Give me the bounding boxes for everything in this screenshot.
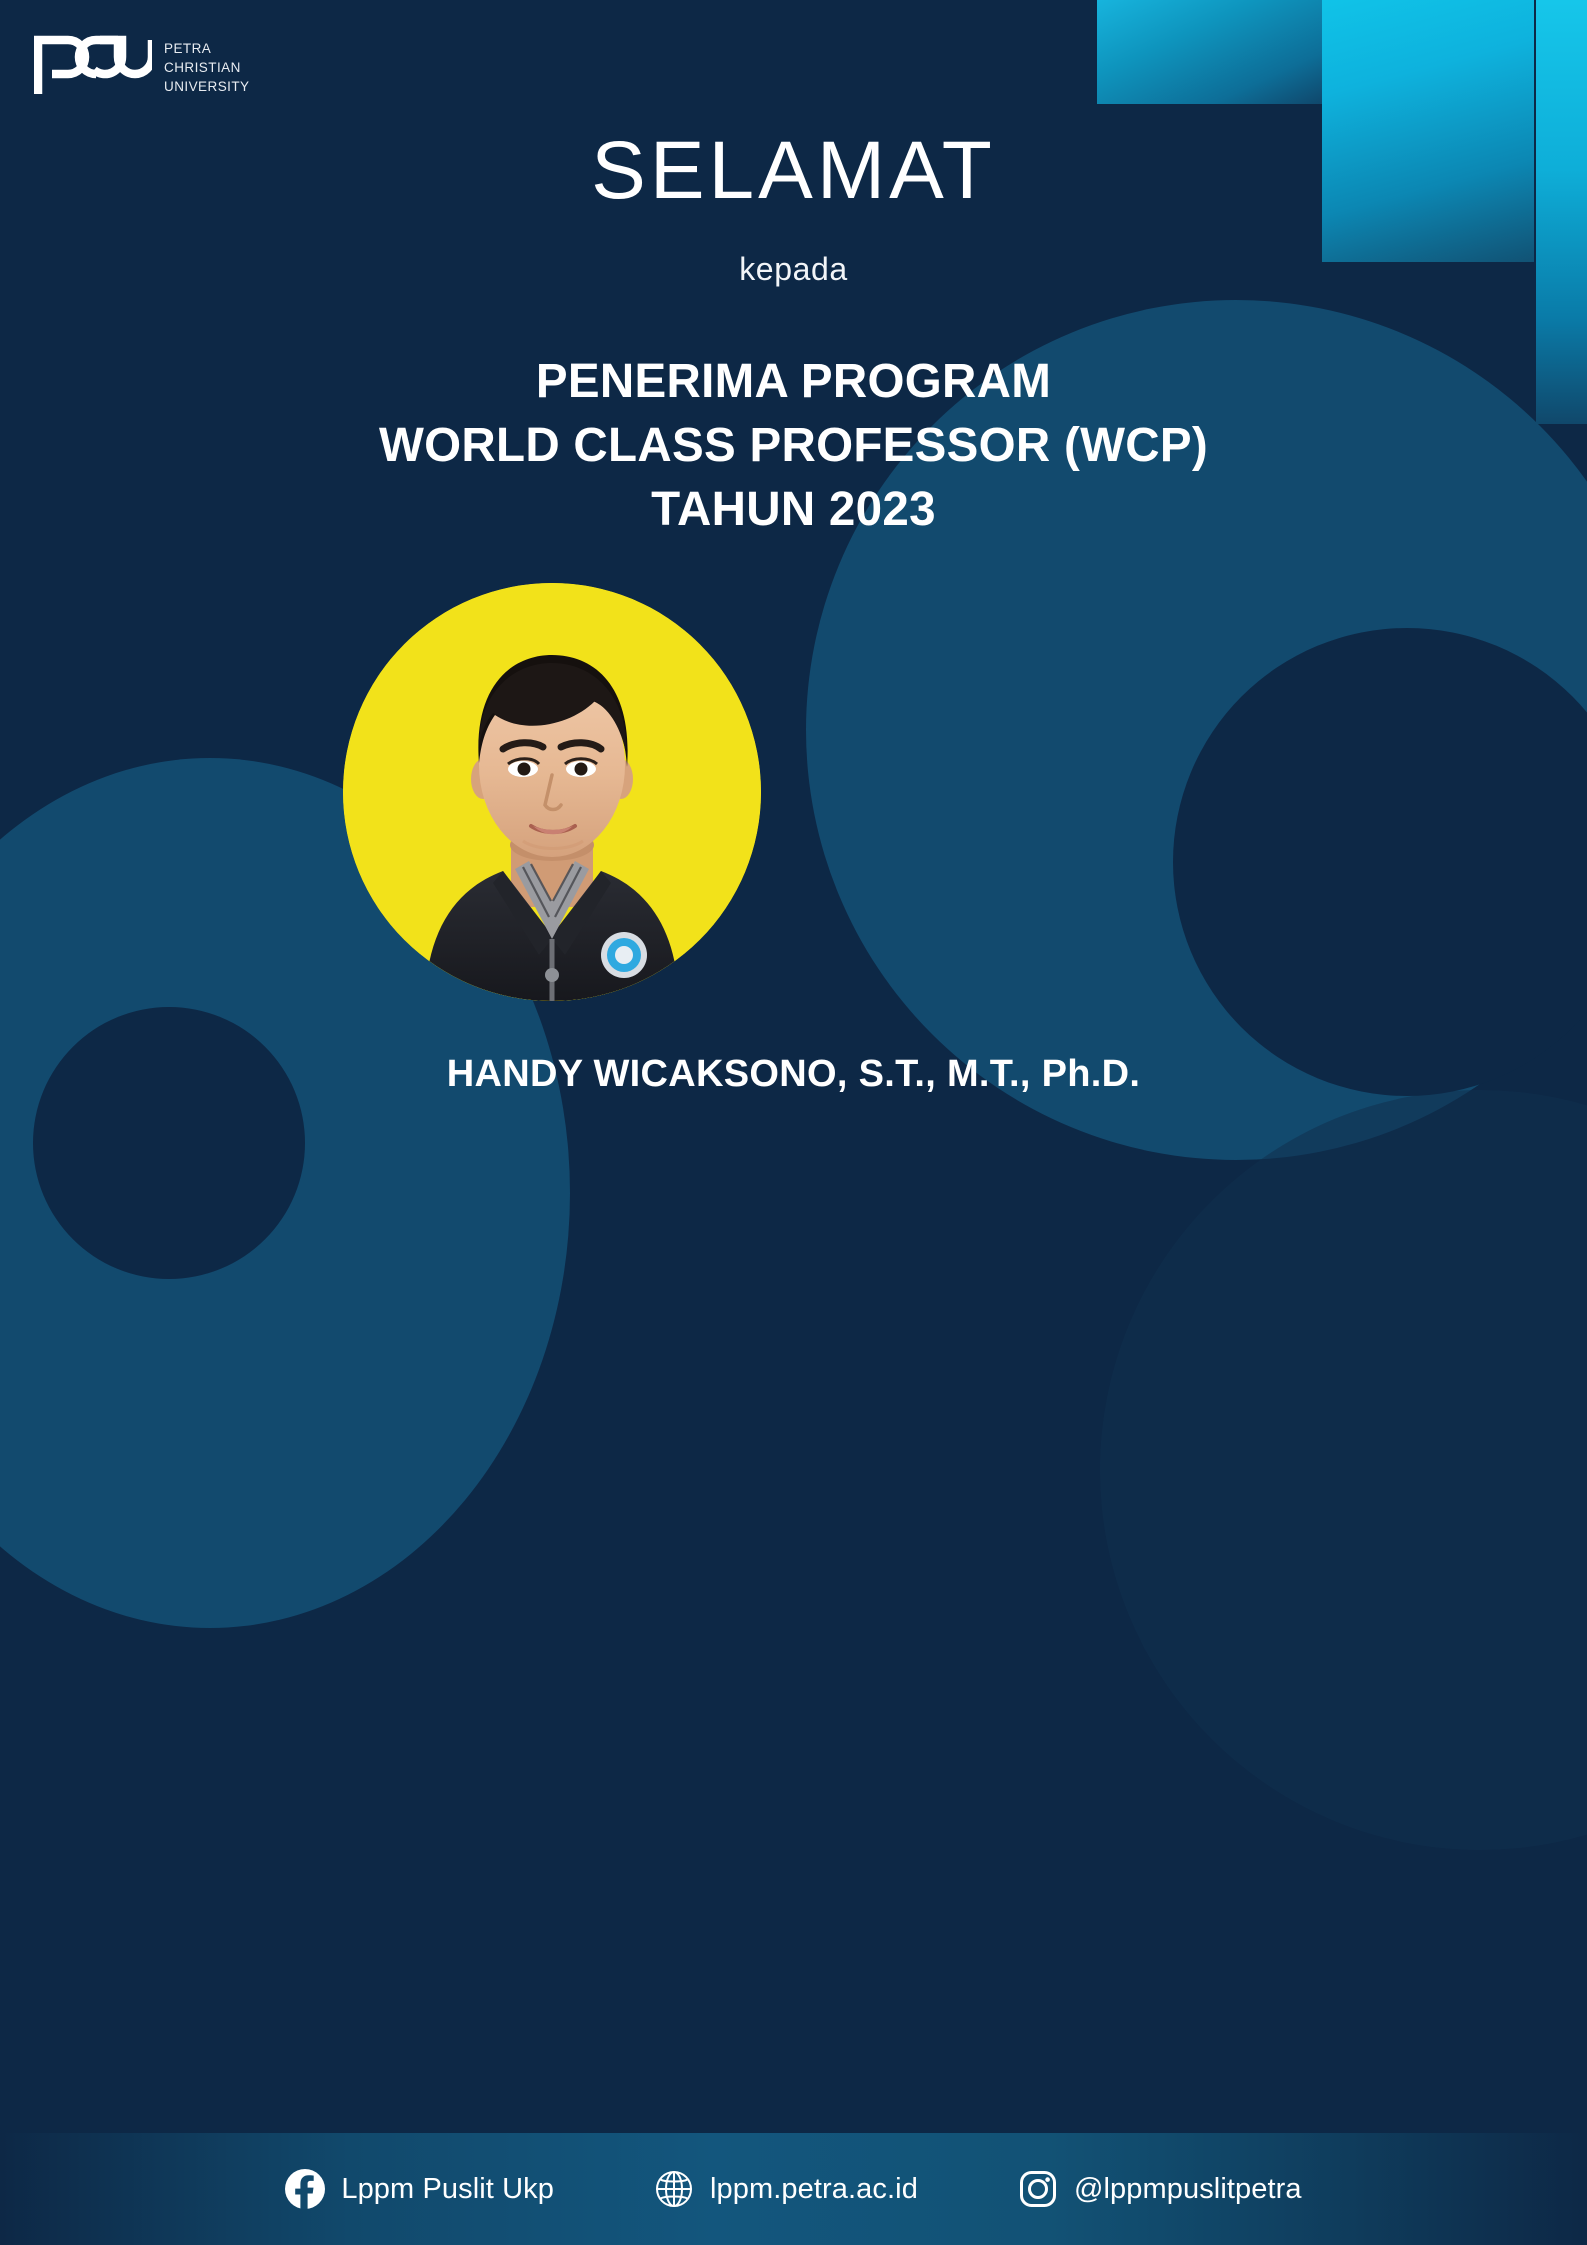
pcu-logo-icon xyxy=(34,32,152,103)
subtitle-kepada: kepada xyxy=(0,253,1587,285)
logo-line-2: CHRISTIAN xyxy=(164,58,250,77)
headline-selamat: SELAMAT xyxy=(0,130,1587,212)
background-decorations xyxy=(0,0,1587,2245)
footer-website[interactable]: lppm.petra.ac.id xyxy=(654,2169,918,2209)
program-title-line-2: WORLD CLASS PROFESSOR (WCP) xyxy=(8,414,1579,478)
footer-facebook-label: Lppm Puslit Ukp xyxy=(341,2173,554,2206)
instagram-icon xyxy=(1018,2169,1058,2209)
footer-instagram[interactable]: @lppmpuslitpetra xyxy=(1018,2169,1302,2209)
pcu-logo-wordmark: PETRA CHRISTIAN UNIVERSITY xyxy=(164,39,250,96)
program-title-line-3: TAHUN 2023 xyxy=(8,478,1579,542)
left-ring-hole xyxy=(33,1007,305,1279)
cyan-bar-1 xyxy=(1097,0,1342,104)
footer-bar: Lppm Puslit Ukp lppm.petra.ac.id xyxy=(0,2133,1587,2245)
facebook-icon xyxy=(285,2169,325,2209)
footer-instagram-label: @lppmpuslitpetra xyxy=(1074,2173,1302,2206)
right-ring-hole xyxy=(1173,628,1587,1096)
program-title: PENERIMA PROGRAM WORLD CLASS PROFESSOR (… xyxy=(8,350,1579,541)
pcu-logo: PETRA CHRISTIAN UNIVERSITY xyxy=(34,32,250,103)
poster-canvas: PETRA CHRISTIAN UNIVERSITY SELAMAT kepad… xyxy=(0,0,1587,2245)
logo-line-1: PETRA xyxy=(164,39,250,58)
recipient-photo xyxy=(343,583,761,1001)
recipient-name: HANDY WICAKSONO, S.T., M.T., Ph.D. xyxy=(0,1055,1587,1093)
logo-line-3: UNIVERSITY xyxy=(164,77,250,96)
footer-website-label: lppm.petra.ac.id xyxy=(710,2173,918,2206)
globe-icon xyxy=(654,2169,694,2209)
footer-facebook[interactable]: Lppm Puslit Ukp xyxy=(285,2169,554,2209)
bottom-right-sweep-shape xyxy=(1100,1090,1587,1850)
program-title-line-1: PENERIMA PROGRAM xyxy=(8,350,1579,414)
